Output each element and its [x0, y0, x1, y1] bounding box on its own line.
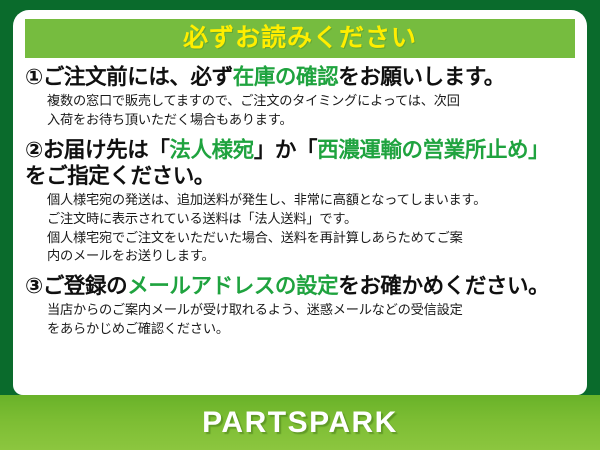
notice-card: 必ずお読みください ①ご注文前には、必ず在庫の確認をお願いします。複数の窓口で販… — [0, 0, 600, 450]
notice-item-body: 当店からのご案内メールが受け取れるよう、迷惑メールなどの受信設定をあらかじめご確… — [47, 301, 577, 338]
notice-item-heading: ①ご注文前には、必ず在庫の確認をお願いします。 — [25, 64, 577, 90]
heading-text: ご登録の — [43, 274, 127, 298]
body-line: 個人様宅宛の発送は、追加送料が発生し、非常に高額となってしまいます。 — [47, 191, 577, 210]
heading-highlight: 在庫の確認 — [233, 65, 339, 89]
notice-item-heading: ③ご登録のメールアドレスの設定をお確かめください。 — [25, 273, 577, 299]
notice-item-body: 複数の窓口で販売してますので、ご注文のタイミングによっては、次回入荷をお待ち頂い… — [47, 92, 577, 129]
notice-item: ①ご注文前には、必ず在庫の確認をお願いします。複数の窓口で販売してますので、ご注… — [25, 64, 577, 130]
body-line: 個人様宅宛でご注文をいただいた場合、送料を再計算しあらためてご案 — [47, 229, 577, 248]
notice-item-marker: ① — [25, 65, 43, 89]
brand-name: PARTSPARK — [202, 408, 398, 438]
heading-highlight: 西濃運輸の営業所止め — [317, 138, 528, 162]
body-line: 複数の窓口で販売してますので、ご注文のタイミングによっては、次回 — [47, 92, 577, 111]
heading-second-line: をご指定ください。 — [25, 163, 577, 189]
notice-item: ②お届け先は「法人様宛」か「西濃運輸の営業所止め」をご指定ください。個人様宅宛の… — [25, 137, 577, 266]
notice-item-marker: ③ — [25, 274, 43, 298]
banner-title: 必ずお読みください — [183, 26, 417, 51]
notice-item-heading: ②お届け先は「法人様宛」か「西濃運輸の営業所止め」をご指定ください。 — [25, 137, 577, 189]
heading-text: ご注文前には、必ず — [43, 65, 233, 89]
heading-text: をお願いします。 — [338, 65, 505, 89]
heading-text: お届け先は「 — [43, 138, 170, 162]
notice-item-marker: ② — [25, 138, 43, 162]
body-line: 入荷をお待ち頂いただく場合もあります。 — [47, 111, 577, 130]
title-banner: 必ずお読みください — [25, 19, 575, 58]
notice-item-list: ①ご注文前には、必ず在庫の確認をお願いします。複数の窓口で販売してますので、ご注… — [13, 64, 587, 346]
notice-item-body: 個人様宅宛の発送は、追加送料が発生し、非常に高額となってしまいます。ご注文時に表… — [47, 191, 577, 266]
body-line: ご注文時に表示されている送料は「法人送料」です。 — [47, 210, 577, 229]
body-line: をあらかじめご確認ください。 — [47, 320, 577, 339]
body-line: 当店からのご案内メールが受け取れるよう、迷惑メールなどの受信設定 — [47, 301, 577, 320]
heading-highlight: メールアドレスの設定 — [127, 274, 338, 298]
notice-item: ③ご登録のメールアドレスの設定をお確かめください。当店からのご案内メールが受け取… — [25, 273, 577, 339]
heading-text: をお確かめください。 — [338, 274, 549, 298]
heading-highlight: 」 — [528, 138, 549, 162]
white-panel: 必ずお読みください ①ご注文前には、必ず在庫の確認をお願いします。複数の窓口で販… — [13, 10, 587, 395]
heading-highlight: 法人様宛 — [169, 138, 253, 162]
heading-text: 」か「 — [254, 138, 317, 162]
footer-band: PARTSPARK — [0, 395, 600, 450]
body-line: 内のメールをお送りします。 — [47, 247, 577, 266]
